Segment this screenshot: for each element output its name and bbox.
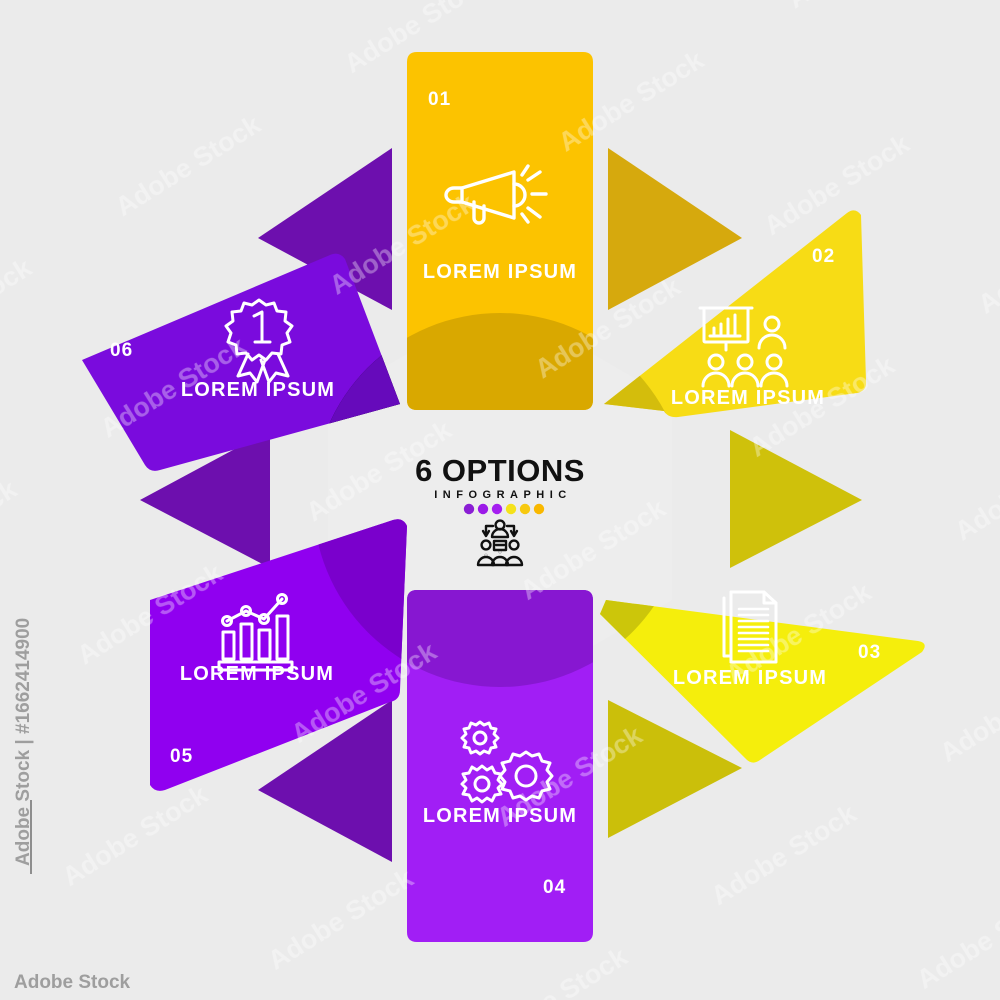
center-subtitle: INFOGRAPHIC (434, 489, 572, 501)
svg-text:Adobe Stock: Adobe Stock (706, 798, 863, 911)
segment-06-number: 06 (110, 340, 133, 361)
svg-text:Adobe Stock: Adobe Stock (57, 779, 214, 892)
center-dot-3 (492, 504, 502, 514)
segment-01-label: LOREM IPSUM (423, 261, 577, 283)
segment-03-number: 03 (858, 642, 881, 663)
center-dot-2 (478, 504, 488, 514)
svg-text:Adobe Stock: Adobe Stock (782, 0, 939, 14)
svg-text:Adobe Stock: Adobe Stock (973, 206, 1000, 319)
segment-05-number: 05 (170, 746, 193, 767)
segment-05-label: LOREM IPSUM (180, 663, 334, 685)
center-dot-6 (534, 504, 544, 514)
svg-text:Adobe Stock: Adobe Stock (911, 881, 1000, 994)
center-dot-5 (520, 504, 530, 514)
infographic-graphic: 01 LOREM IPSUM 02 (0, 0, 1000, 1000)
svg-text:Adobe Stock: Adobe Stock (263, 862, 420, 975)
svg-text:Adobe Stock: Adobe Stock (949, 433, 1000, 546)
svg-text:Adobe Stock: Adobe Stock (0, 473, 23, 586)
svg-text:Adobe Stock: Adobe Stock (110, 109, 267, 222)
infographic-canvas: 01 LOREM IPSUM 02 (0, 0, 1000, 1000)
watermark-divider (30, 800, 32, 874)
center-dot-4 (506, 504, 516, 514)
svg-text:Adobe Stock: Adobe Stock (0, 252, 38, 365)
segment-02-number: 02 (812, 246, 835, 267)
segment-01-number: 01 (428, 89, 451, 110)
center-dot-1 (464, 504, 474, 514)
segment-04-number: 04 (543, 877, 566, 898)
svg-text:Adobe Stock: Adobe Stock (477, 941, 634, 1000)
bg-triangle-right (730, 430, 862, 568)
svg-text:Adobe Stock: Adobe Stock (935, 655, 1000, 768)
center-title: 6 OPTIONS (415, 453, 585, 488)
